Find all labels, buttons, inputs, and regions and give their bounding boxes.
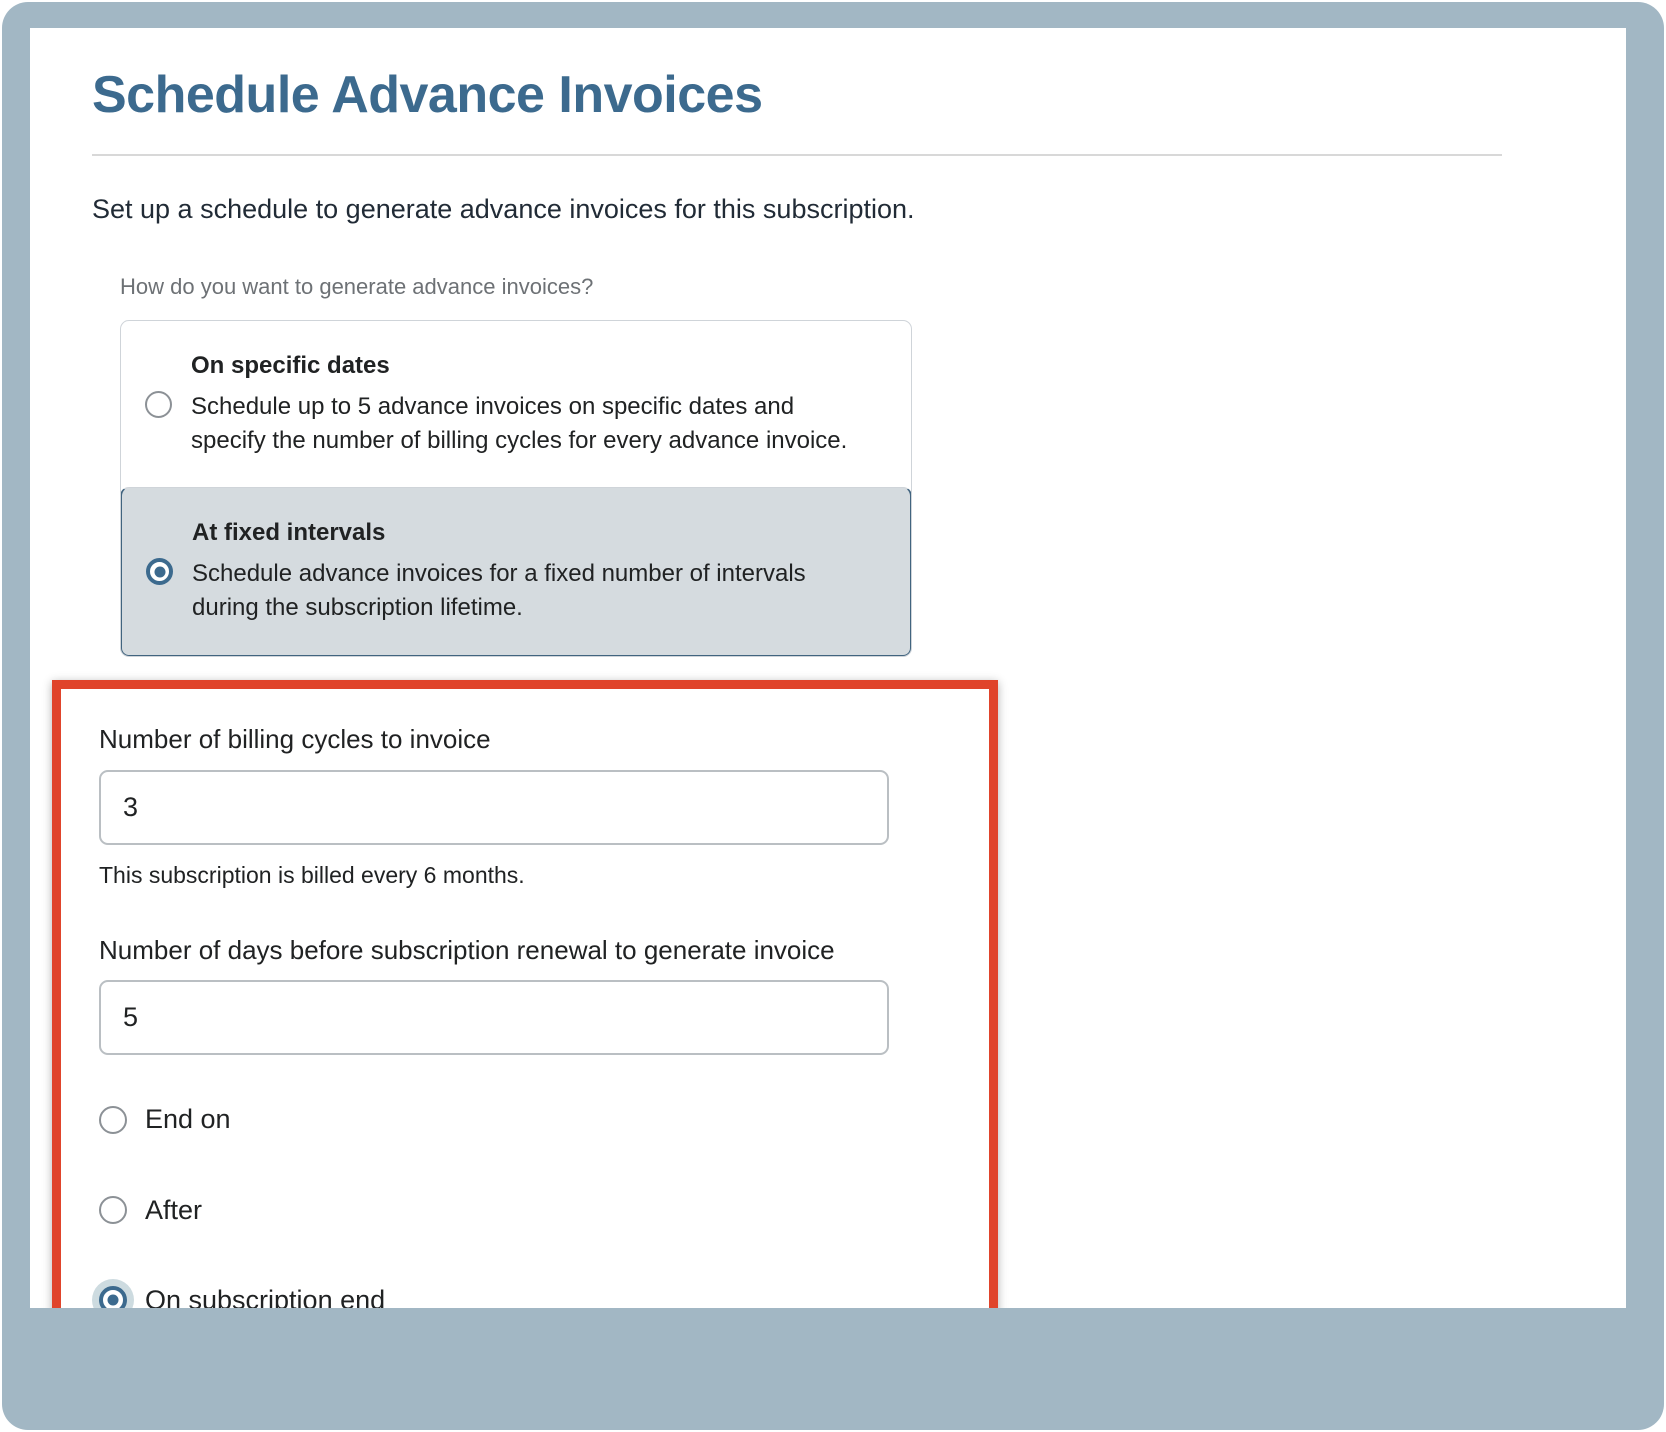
- radio-on-subscription-end-icon[interactable]: [99, 1286, 127, 1308]
- annotation-highlight-box: Number of billing cycles to invoice 3 Th…: [52, 680, 998, 1308]
- choice-on-specific-dates[interactable]: On specific dates Schedule up to 5 advan…: [121, 321, 911, 488]
- choice-at-fixed-intervals[interactable]: At fixed intervals Schedule advance invo…: [120, 487, 912, 657]
- end-condition-label: On subscription end: [145, 1284, 385, 1308]
- end-condition-option-after[interactable]: After: [99, 1194, 951, 1226]
- choice-description: Schedule advance invoices for a fixed nu…: [192, 557, 872, 625]
- page-title: Schedule Advance Invoices: [92, 64, 1566, 140]
- choice-title: At fixed intervals: [192, 518, 884, 548]
- end-condition-option-on-subscription-end[interactable]: On subscription end: [99, 1284, 951, 1308]
- generation-method-question: How do you want to generate advance invo…: [120, 273, 1566, 302]
- title-divider: [92, 154, 1502, 156]
- radio-on-specific-dates-icon[interactable]: [145, 391, 172, 418]
- radio-end-on-icon[interactable]: [99, 1106, 127, 1134]
- choice-description: Schedule up to 5 advance invoices on spe…: [191, 390, 871, 458]
- days-before-renewal-input[interactable]: 5: [99, 980, 889, 1055]
- end-condition-option-end-on[interactable]: End on: [99, 1103, 951, 1135]
- screenshot-root: Schedule Advance Invoices Set up a sched…: [0, 0, 1666, 1432]
- billing-cycles-input[interactable]: 3: [99, 770, 889, 845]
- end-condition-label: After: [145, 1194, 202, 1226]
- generation-method-radio-group: On specific dates Schedule up to 5 advan…: [120, 320, 912, 657]
- page-intro-text: Set up a schedule to generate advance in…: [92, 192, 1566, 227]
- end-condition-label: End on: [145, 1103, 231, 1135]
- choice-title: On specific dates: [191, 351, 885, 381]
- days-before-renewal-label: Number of days before subscription renew…: [99, 934, 951, 968]
- billing-cycles-label: Number of billing cycles to invoice: [99, 723, 951, 757]
- content-card: Schedule Advance Invoices Set up a sched…: [30, 28, 1626, 1308]
- billing-cycles-help-text: This subscription is billed every 6 mont…: [99, 861, 951, 891]
- radio-after-icon[interactable]: [99, 1196, 127, 1224]
- radio-at-fixed-intervals-icon[interactable]: [146, 558, 173, 585]
